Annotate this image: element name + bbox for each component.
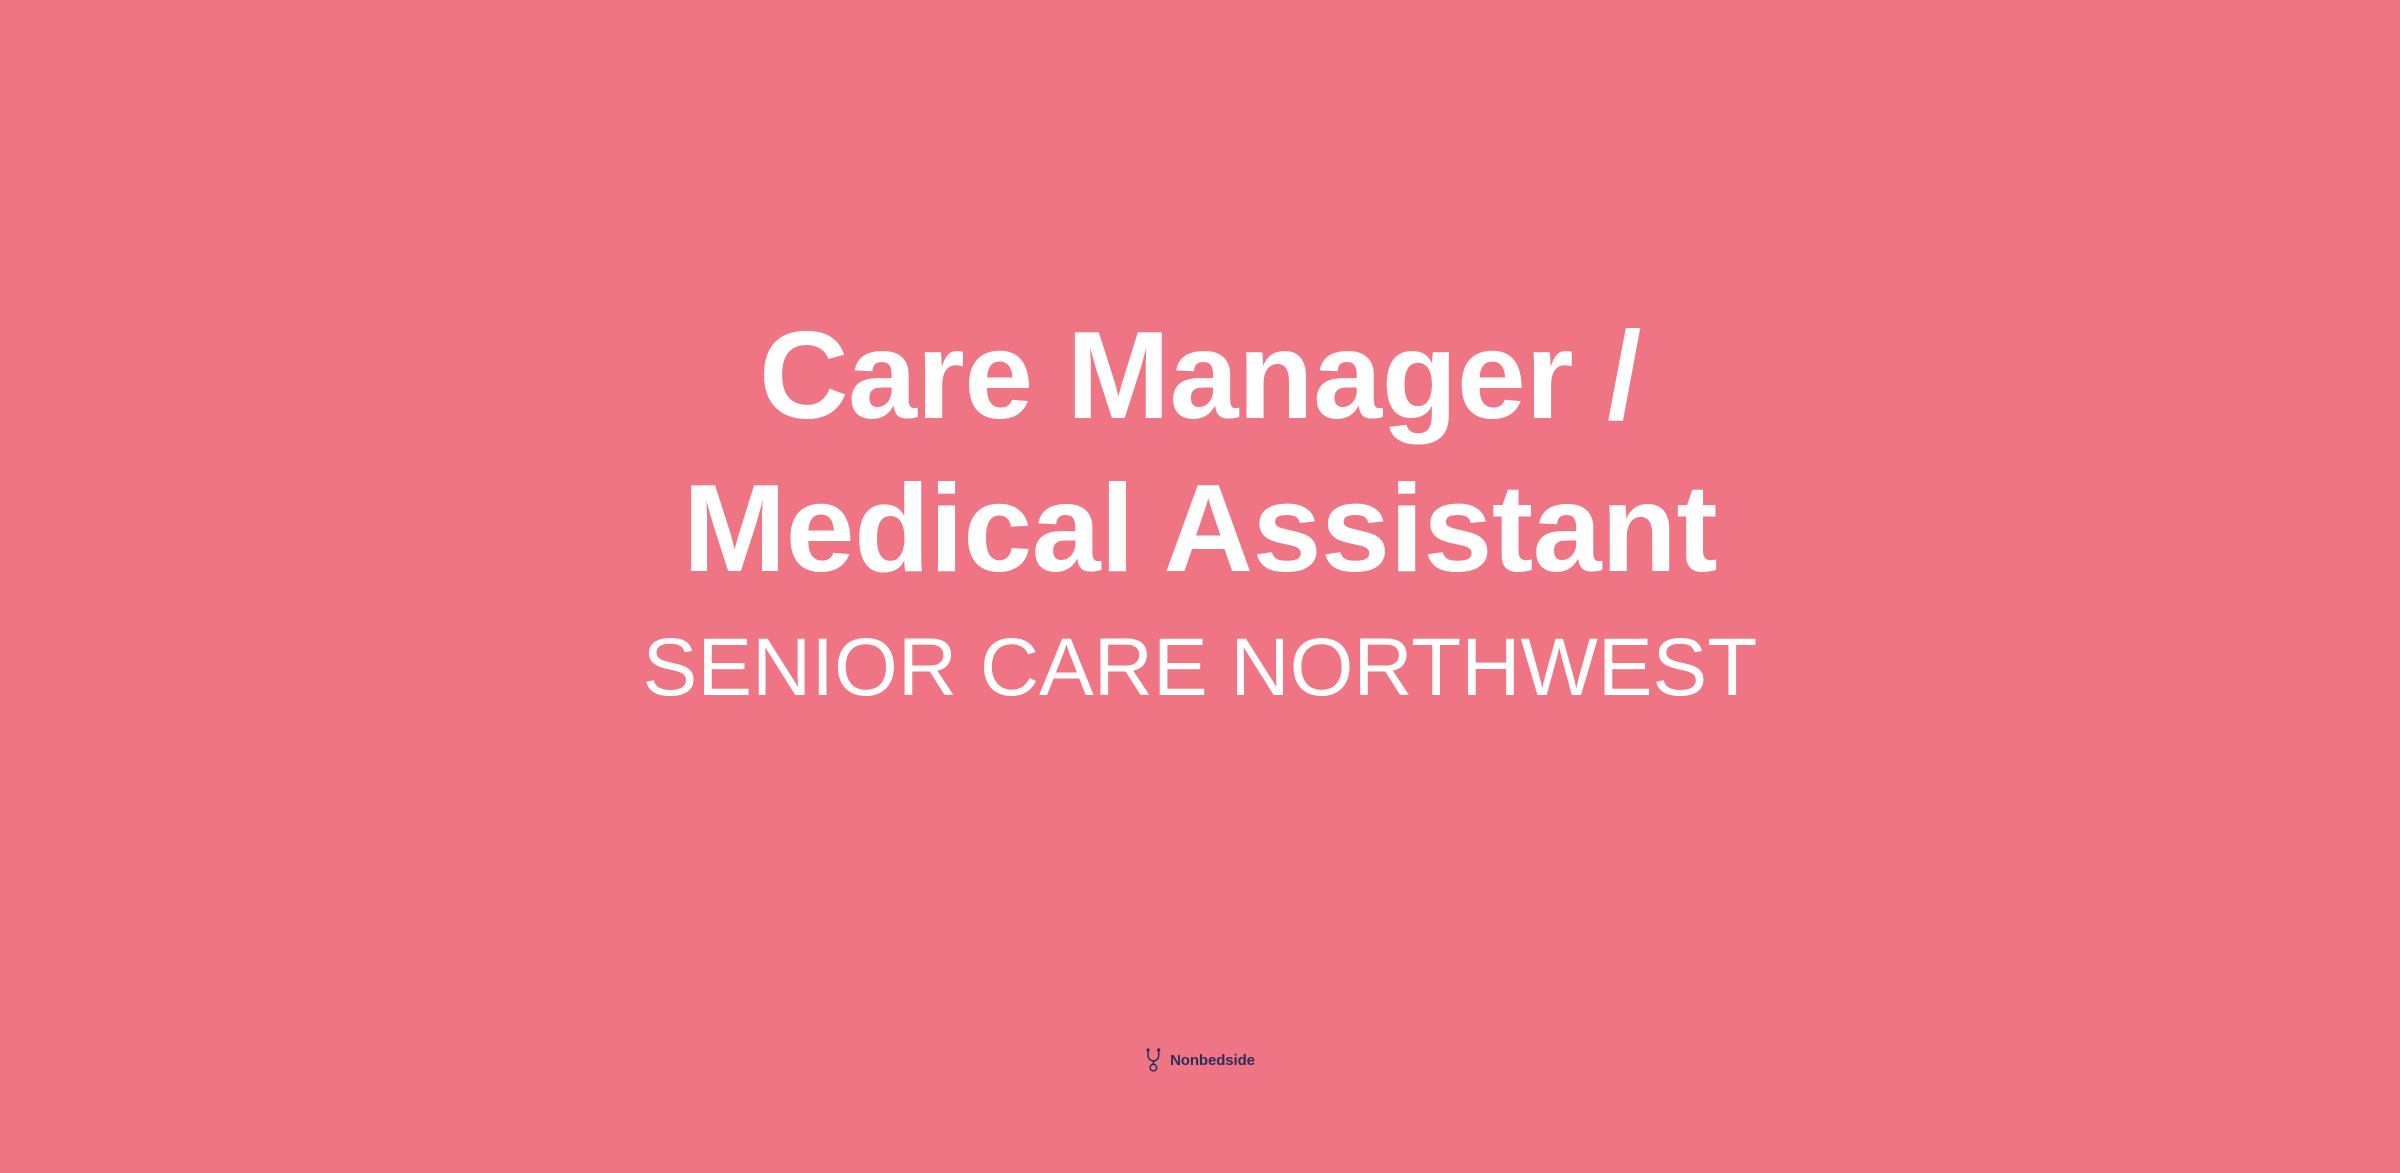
hero-text-block: Care Manager / Medical Assistant SENIOR …	[0, 300, 2400, 718]
employer-name: SENIOR CARE NORTHWEST	[643, 606, 1758, 718]
brand-wordmark: Nonbedside	[1170, 1051, 1255, 1070]
stethoscope-icon	[1145, 1048, 1164, 1073]
job-posting-slide: Care Manager / Medical Assistant SENIOR …	[0, 0, 2400, 1173]
page-title: Care Manager / Medical Assistant	[535, 300, 1865, 606]
brand-lockup: Nonbedside	[0, 1048, 2400, 1073]
